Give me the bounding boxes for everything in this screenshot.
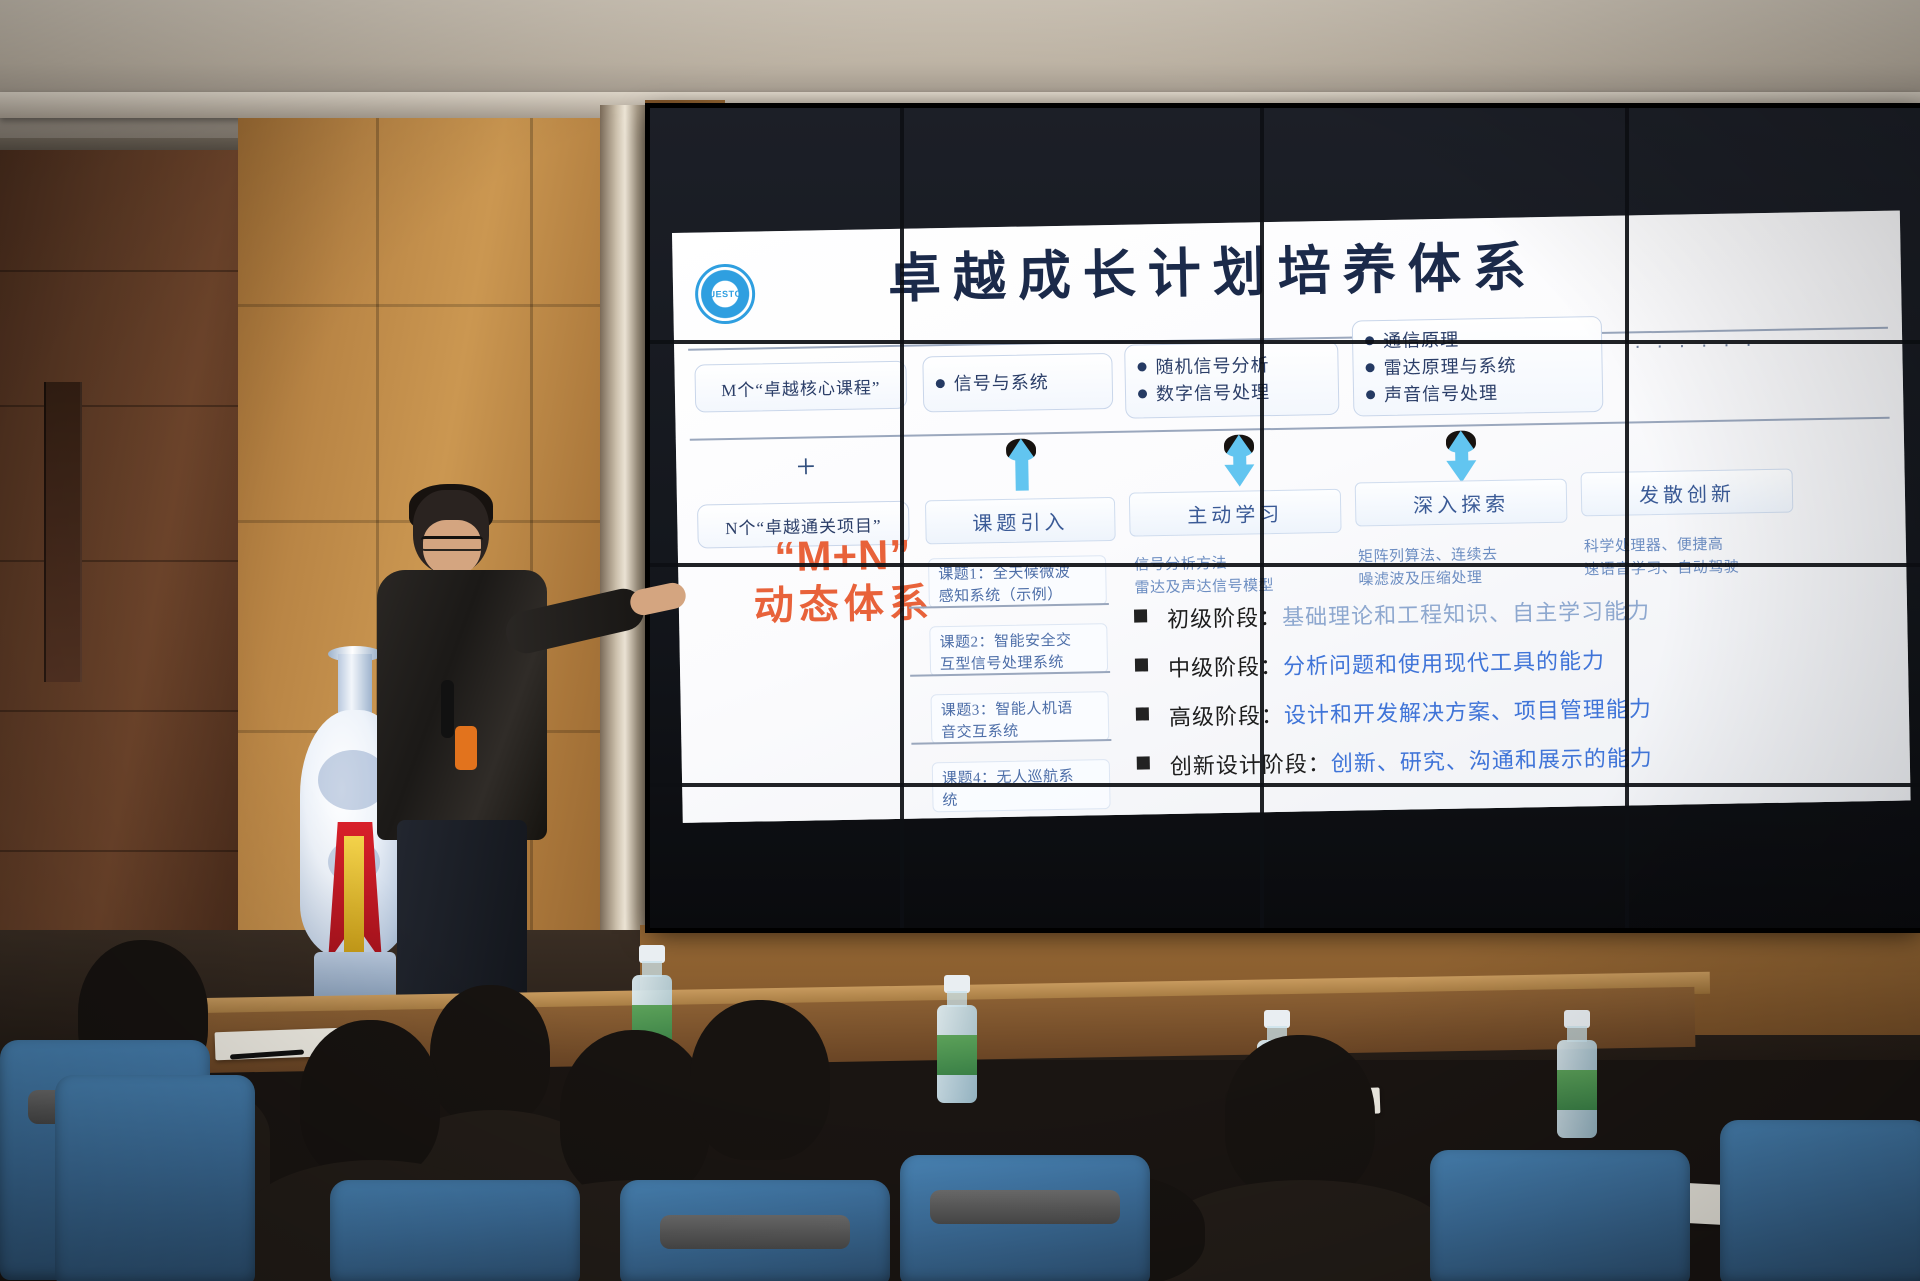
chair-backrest-band: [930, 1190, 1120, 1224]
audience-head: [690, 1000, 830, 1160]
audience-head: [430, 985, 550, 1125]
audience-head: [1225, 1035, 1375, 1200]
lecture-hall-photo: UESTC 卓越成长计划培养体系 M个“卓越核心课程” 信号与系统 随机信号分析…: [0, 0, 1920, 1281]
audience-head: [560, 1030, 710, 1200]
auditorium-chair: [330, 1180, 580, 1281]
auditorium-chair: [1430, 1150, 1690, 1281]
audience-head: [300, 1020, 440, 1180]
chair-backrest-band: [660, 1215, 850, 1249]
auditorium-chair: [55, 1075, 255, 1281]
audience-area: [0, 0, 1920, 1281]
auditorium-chair: [1720, 1120, 1920, 1281]
